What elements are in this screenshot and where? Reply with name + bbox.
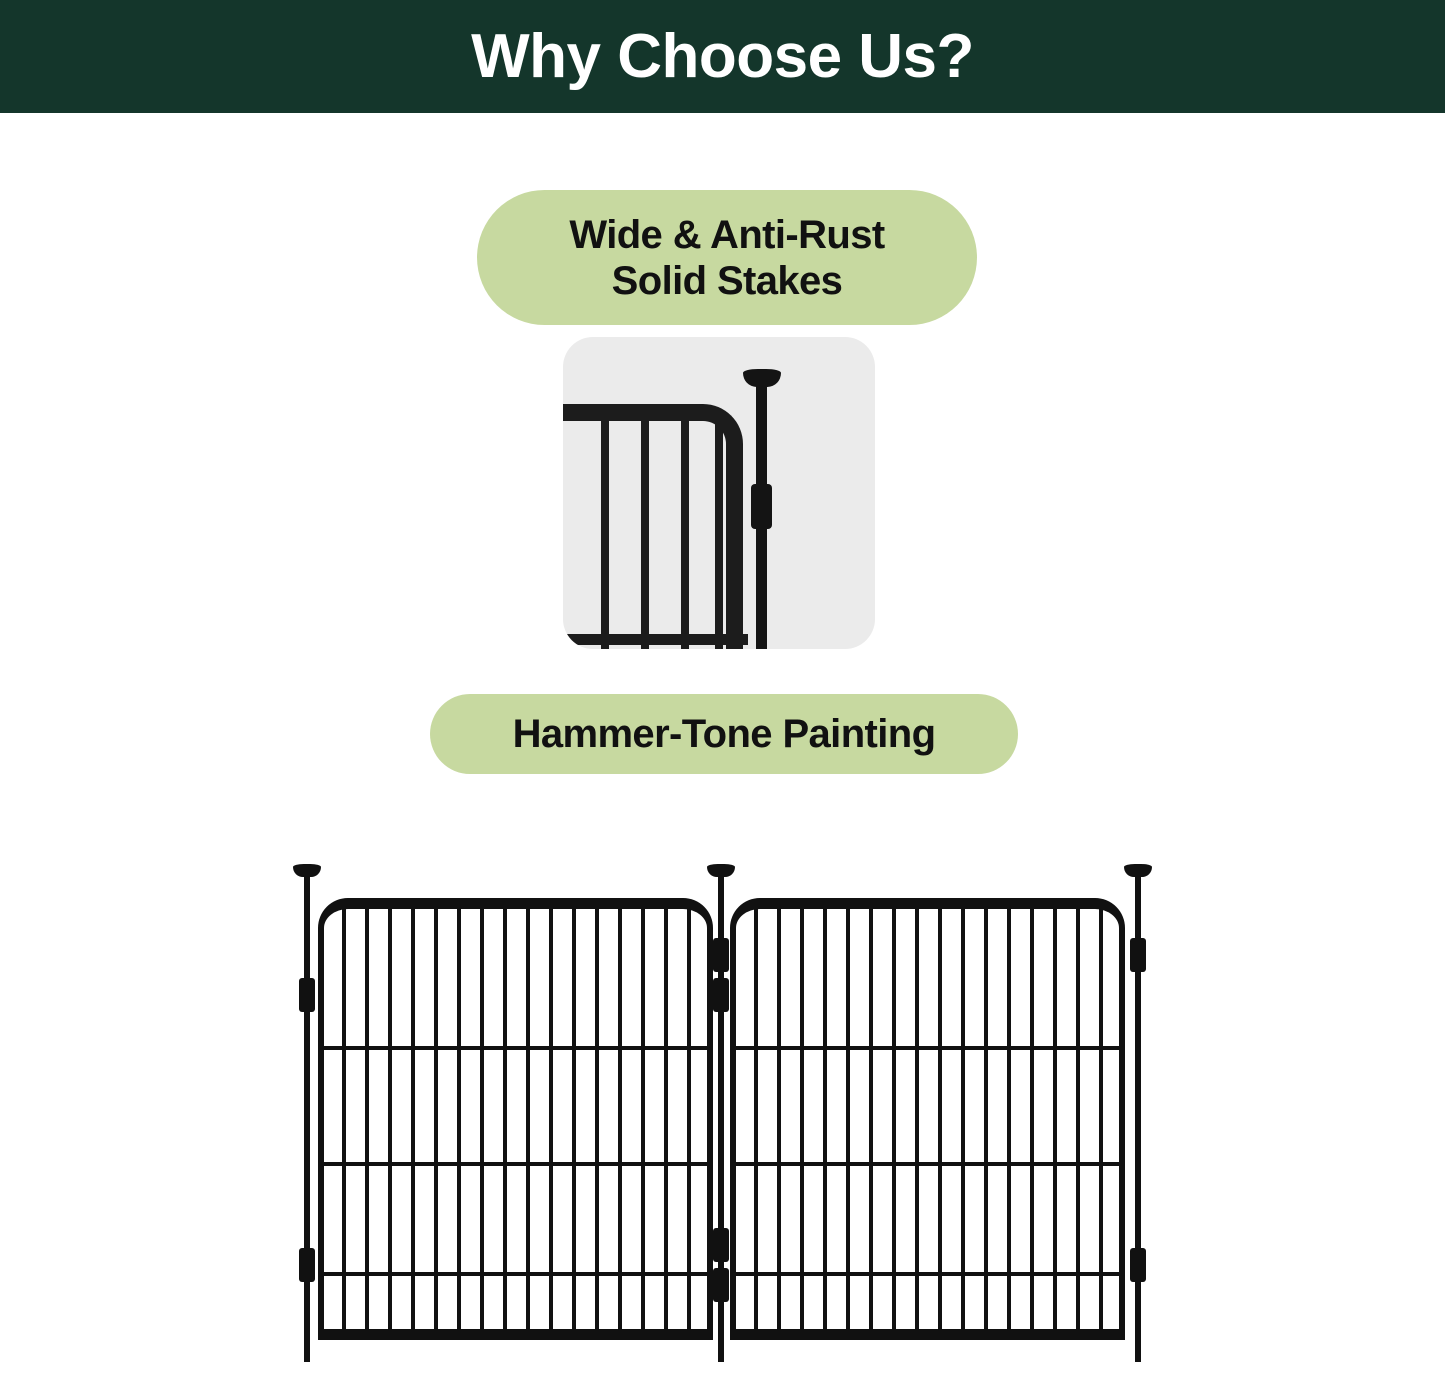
fence-vertical-bar bbox=[1099, 906, 1103, 1332]
fence-vertical-bar bbox=[800, 906, 804, 1332]
fence-vertical-bar bbox=[1053, 906, 1057, 1332]
fence-horizontal-rail bbox=[320, 1272, 711, 1276]
fence-vertical-bar bbox=[938, 906, 942, 1332]
fence-vertical-bar bbox=[823, 906, 827, 1332]
detail-vertical-bar bbox=[681, 417, 689, 649]
infographic-page: Why Choose Us? Wide & Anti-Rust Solid St… bbox=[0, 0, 1445, 1374]
fence-vertical-bar bbox=[892, 906, 896, 1332]
stake-clip bbox=[713, 1228, 729, 1262]
detail-vertical-bar bbox=[641, 417, 649, 649]
stake-clip bbox=[713, 1268, 729, 1302]
fence-vertical-bar bbox=[1007, 906, 1011, 1332]
fence-horizontal-rail bbox=[320, 1162, 711, 1166]
stake-cap-icon bbox=[1124, 864, 1152, 877]
fence-vertical-bar bbox=[641, 906, 645, 1332]
detail-vertical-bar bbox=[601, 417, 609, 649]
stake-clip bbox=[1130, 1248, 1146, 1282]
feature-pill-label-line1: Wide & Anti-Rust bbox=[569, 213, 884, 257]
fence-vertical-bar bbox=[961, 906, 965, 1332]
stake-clip bbox=[299, 978, 315, 1012]
fence-vertical-bar bbox=[503, 906, 507, 1332]
fence-vertical-bar bbox=[846, 906, 850, 1332]
stake-left bbox=[304, 872, 310, 1362]
fence-vertical-bar bbox=[618, 906, 622, 1332]
feature-pill-label-line2: Solid Stakes bbox=[612, 259, 843, 303]
detail-vertical-bar bbox=[715, 417, 723, 649]
fence-vertical-bar bbox=[549, 906, 553, 1332]
fence-vertical-bar bbox=[687, 906, 691, 1332]
stake-middle bbox=[718, 872, 724, 1362]
fence-vertical-bar bbox=[915, 906, 919, 1332]
product-image-two-panel-metal-fence bbox=[290, 872, 1155, 1362]
fence-panel-right bbox=[730, 898, 1125, 1340]
detail-photo-card bbox=[563, 337, 875, 649]
detail-right-post bbox=[726, 457, 743, 649]
stake-cap-icon bbox=[707, 864, 735, 877]
fence-vertical-bar bbox=[526, 906, 530, 1332]
stake-clip bbox=[1130, 938, 1146, 972]
fence-horizontal-rail bbox=[320, 1046, 711, 1050]
fence-horizontal-rail bbox=[732, 1162, 1123, 1166]
detail-photo-content bbox=[563, 337, 875, 649]
fence-vertical-bar bbox=[984, 906, 988, 1332]
fence-vertical-bar bbox=[434, 906, 438, 1332]
stake-clip bbox=[713, 978, 729, 1012]
fence-vertical-bar bbox=[388, 906, 392, 1332]
fence-vertical-bar bbox=[595, 906, 599, 1332]
fence-vertical-bar bbox=[411, 906, 415, 1332]
stake-right bbox=[1135, 872, 1141, 1362]
stake-cap-icon bbox=[293, 864, 321, 877]
stake-clip bbox=[299, 1248, 315, 1282]
feature-pill-label-line1: Hammer-Tone Painting bbox=[513, 711, 936, 757]
fence-vertical-bar bbox=[342, 906, 346, 1332]
fence-vertical-bar bbox=[1030, 906, 1034, 1332]
detail-stake-clip bbox=[751, 484, 772, 529]
fence-vertical-bar bbox=[480, 906, 484, 1332]
detail-bottom-rail bbox=[563, 634, 748, 645]
fence-horizontal-rail bbox=[732, 1272, 1123, 1276]
fence-vertical-bar bbox=[1076, 906, 1080, 1332]
fence-vertical-bar bbox=[777, 906, 781, 1332]
feature-pill-hammer-tone-painting: Hammer-Tone Painting bbox=[430, 694, 1018, 774]
fence-vertical-bar bbox=[365, 906, 369, 1332]
fence-vertical-bar bbox=[457, 906, 461, 1332]
feature-pill-wide-anti-rust-solid-stakes: Wide & Anti-Rust Solid Stakes bbox=[477, 190, 977, 325]
fence-vertical-bar bbox=[664, 906, 668, 1332]
fence-panel-left bbox=[318, 898, 713, 1340]
feature-pill-label: Wide & Anti-Rust Solid Stakes bbox=[569, 212, 884, 304]
header-banner: Why Choose Us? bbox=[0, 0, 1445, 113]
fence-vertical-bar bbox=[572, 906, 576, 1332]
fence-horizontal-rail bbox=[732, 1046, 1123, 1050]
fence-vertical-bar bbox=[754, 906, 758, 1332]
stake-clip bbox=[713, 938, 729, 972]
page-title: Why Choose Us? bbox=[471, 26, 974, 88]
fence-vertical-bar bbox=[869, 906, 873, 1332]
